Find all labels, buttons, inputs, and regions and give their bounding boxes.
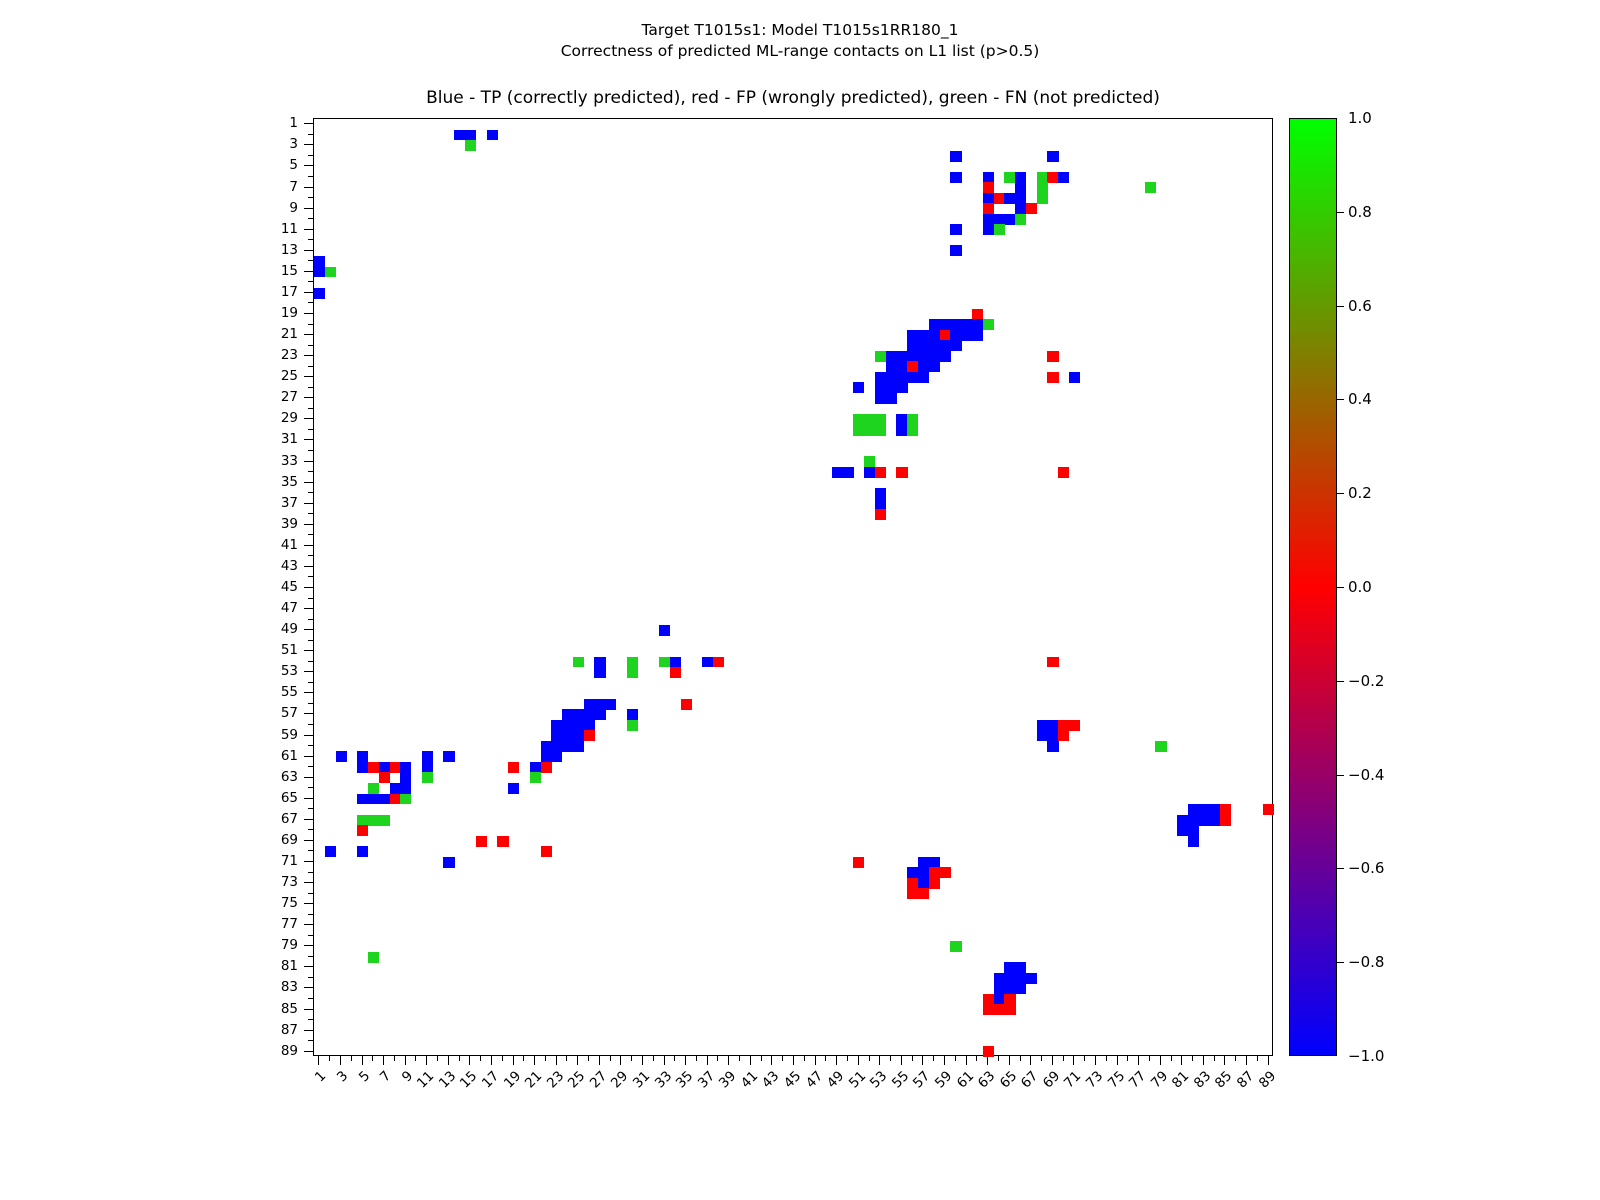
contact-cell xyxy=(875,467,886,478)
y-tick xyxy=(304,861,313,862)
contact-cell xyxy=(886,351,897,362)
y-tick xyxy=(308,239,313,240)
contact-cell xyxy=(929,351,940,362)
y-tick-label: 19 xyxy=(258,305,298,321)
y-tick xyxy=(308,640,313,641)
x-tick xyxy=(556,1056,557,1065)
y-tick-label: 69 xyxy=(258,832,298,848)
y-tick xyxy=(308,619,313,620)
colorbar-tick xyxy=(1337,868,1344,869)
x-tick xyxy=(318,1056,319,1065)
contact-cell xyxy=(1004,214,1015,225)
x-tick xyxy=(577,1056,578,1065)
contact-cell xyxy=(368,783,379,794)
x-tick xyxy=(1073,1056,1074,1065)
y-tick-label: 61 xyxy=(258,748,298,764)
x-tick xyxy=(415,1056,416,1061)
y-tick-label: 27 xyxy=(258,389,298,405)
contact-cell xyxy=(627,720,638,731)
y-tick xyxy=(304,376,313,377)
contact-cell xyxy=(573,720,584,731)
y-tick-label: 33 xyxy=(258,453,298,469)
y-tick xyxy=(308,787,313,788)
contact-cell xyxy=(929,857,940,868)
y-tick xyxy=(304,966,313,967)
contact-cell xyxy=(994,983,1005,994)
contact-cell xyxy=(594,667,605,678)
contact-cell xyxy=(1004,983,1015,994)
y-tick xyxy=(304,987,313,988)
contact-cell xyxy=(918,888,929,899)
x-tick xyxy=(1127,1056,1128,1061)
contact-cell xyxy=(940,351,951,362)
y-tick xyxy=(304,882,313,883)
contact-cell xyxy=(357,751,368,762)
x-tick xyxy=(1192,1056,1193,1061)
y-tick xyxy=(308,872,313,873)
y-tick-label: 71 xyxy=(258,853,298,869)
x-tick xyxy=(566,1056,567,1061)
y-tick xyxy=(304,313,313,314)
contact-cell xyxy=(940,867,951,878)
x-tick xyxy=(1041,1056,1042,1061)
y-tick-label: 11 xyxy=(258,221,298,237)
contact-cell xyxy=(1058,730,1069,741)
x-tick xyxy=(502,1056,503,1061)
contact-cell xyxy=(357,825,368,836)
contact-cell xyxy=(907,888,918,899)
contact-cell xyxy=(864,456,875,467)
x-tick xyxy=(1224,1056,1225,1065)
x-tick xyxy=(329,1056,330,1061)
contact-cell xyxy=(929,878,940,889)
contact-cell xyxy=(1069,720,1080,731)
y-tick xyxy=(308,829,313,830)
contact-cell xyxy=(1037,730,1048,741)
x-tick xyxy=(426,1056,427,1065)
contact-cell xyxy=(390,762,401,773)
contact-cell xyxy=(1015,983,1026,994)
x-tick xyxy=(1203,1056,1204,1065)
contact-cell xyxy=(950,151,961,162)
contact-cell xyxy=(551,720,562,731)
y-tick xyxy=(308,345,313,346)
y-tick-label: 29 xyxy=(258,410,298,426)
x-tick xyxy=(437,1056,438,1061)
y-tick xyxy=(308,914,313,915)
y-tick xyxy=(308,935,313,936)
contact-cell xyxy=(530,772,541,783)
y-tick xyxy=(304,397,313,398)
y-tick xyxy=(308,155,313,156)
contact-cell xyxy=(918,857,929,868)
contact-cell xyxy=(573,741,584,752)
y-tick-label: 37 xyxy=(258,495,298,511)
x-tick xyxy=(836,1056,837,1065)
contact-cell xyxy=(1155,741,1166,752)
y-tick xyxy=(308,324,313,325)
figure-title-line1: Target T1015s1: Model T1015s1RR180_1 xyxy=(0,20,1600,41)
x-tick xyxy=(1084,1056,1085,1061)
contact-cell xyxy=(357,794,368,805)
contact-cell xyxy=(1263,804,1274,815)
contact-cell xyxy=(336,751,347,762)
y-tick xyxy=(304,1009,313,1010)
contact-cell xyxy=(681,699,692,710)
contact-cell xyxy=(400,762,411,773)
x-tick xyxy=(1106,1056,1107,1061)
y-tick xyxy=(308,302,313,303)
y-tick xyxy=(304,945,313,946)
y-tick xyxy=(304,250,313,251)
contact-cell xyxy=(1220,815,1231,826)
contact-cell xyxy=(443,751,454,762)
x-tick xyxy=(955,1056,956,1061)
contact-cell xyxy=(584,730,595,741)
contact-cell xyxy=(454,130,465,141)
x-tick xyxy=(793,1056,794,1065)
x-tick xyxy=(890,1056,891,1061)
x-tick xyxy=(545,1056,546,1061)
y-tick xyxy=(308,1040,313,1041)
contact-cell xyxy=(864,467,875,478)
x-tick xyxy=(1117,1056,1118,1065)
contact-cell xyxy=(961,330,972,341)
x-tick xyxy=(383,1056,384,1065)
x-tick xyxy=(987,1056,988,1065)
contact-cell xyxy=(551,730,562,741)
contact-cell xyxy=(1015,172,1026,183)
contact-cell xyxy=(875,414,886,425)
contact-cell xyxy=(853,425,864,436)
y-tick-label: 47 xyxy=(258,600,298,616)
x-tick xyxy=(1030,1056,1031,1065)
contact-cell xyxy=(994,1004,1005,1015)
x-tick xyxy=(534,1056,535,1065)
contact-cell xyxy=(1015,203,1026,214)
x-tick xyxy=(372,1056,373,1061)
contact-cell xyxy=(983,214,994,225)
x-tick xyxy=(761,1056,762,1061)
contact-cell xyxy=(929,867,940,878)
contact-cell xyxy=(508,783,519,794)
contact-cell xyxy=(562,709,573,720)
colorbar-tick-label: 0.2 xyxy=(1348,484,1372,502)
contact-cell xyxy=(1004,973,1015,984)
contact-cell xyxy=(1047,172,1058,183)
contact-cell xyxy=(314,288,325,299)
contact-cell xyxy=(886,382,897,393)
colorbar-tick-label: 0.8 xyxy=(1348,203,1372,221)
y-tick xyxy=(308,576,313,577)
y-tick xyxy=(308,598,313,599)
colorbar-tick-label: −1.0 xyxy=(1348,1047,1384,1065)
contact-cell xyxy=(1015,214,1026,225)
contact-cell xyxy=(972,319,983,330)
contact-cell xyxy=(627,657,638,668)
colorbar-tick-label: −0.2 xyxy=(1348,672,1384,690)
contact-cell xyxy=(1209,804,1220,815)
y-tick xyxy=(304,798,313,799)
x-tick xyxy=(362,1056,363,1065)
contact-cell xyxy=(875,382,886,393)
contact-cell xyxy=(379,762,390,773)
contact-cell xyxy=(465,140,476,151)
y-tick xyxy=(308,408,313,409)
x-tick xyxy=(966,1056,967,1065)
contact-cell xyxy=(357,815,368,826)
y-tick-label: 39 xyxy=(258,516,298,532)
y-tick-label: 53 xyxy=(258,663,298,679)
x-tick xyxy=(1181,1056,1182,1065)
contact-cell xyxy=(400,772,411,783)
colorbar-tick-label: 0.0 xyxy=(1348,578,1372,596)
contact-cell xyxy=(832,467,843,478)
contact-cell xyxy=(1015,973,1026,984)
x-tick xyxy=(858,1056,859,1065)
contact-cell xyxy=(584,699,595,710)
y-tick-label: 1 xyxy=(258,115,298,131)
colorbar-tick-label: 0.4 xyxy=(1348,390,1372,408)
colorbar-tick xyxy=(1337,306,1344,307)
contact-cell xyxy=(584,709,595,720)
y-tick xyxy=(308,893,313,894)
x-tick xyxy=(599,1056,600,1065)
y-tick xyxy=(308,134,313,135)
contact-cell xyxy=(1015,193,1026,204)
figure-root: Target T1015s1: Model T1015s1RR180_1 Cor… xyxy=(0,0,1600,1200)
x-tick xyxy=(653,1056,654,1061)
y-tick-label: 43 xyxy=(258,558,298,574)
contact-cell xyxy=(864,425,875,436)
y-tick-label: 31 xyxy=(258,431,298,447)
y-tick xyxy=(304,650,313,651)
y-tick xyxy=(308,429,313,430)
contact-cell xyxy=(1047,372,1058,383)
contact-cell xyxy=(907,340,918,351)
x-tick xyxy=(879,1056,880,1065)
colorbar-tick xyxy=(1337,493,1344,494)
x-tick xyxy=(1149,1056,1150,1061)
contact-cell xyxy=(551,751,562,762)
contact-cell xyxy=(379,794,390,805)
contact-cell xyxy=(886,372,897,383)
contact-cell xyxy=(983,224,994,235)
contact-cell xyxy=(907,361,918,372)
contact-cell xyxy=(994,973,1005,984)
x-tick xyxy=(944,1056,945,1065)
contact-cell xyxy=(390,783,401,794)
y-tick-label: 83 xyxy=(258,979,298,995)
contact-cell xyxy=(1188,804,1199,815)
contact-cell xyxy=(1188,836,1199,847)
x-tick xyxy=(513,1056,514,1065)
contact-cell xyxy=(1047,720,1058,731)
contact-cell xyxy=(907,330,918,341)
y-tick xyxy=(304,545,313,546)
contact-cell xyxy=(983,1046,994,1057)
x-tick xyxy=(394,1056,395,1061)
contact-cell xyxy=(368,794,379,805)
x-tick xyxy=(1063,1056,1064,1061)
y-tick xyxy=(308,176,313,177)
y-tick-label: 75 xyxy=(258,895,298,911)
y-tick-label: 55 xyxy=(258,684,298,700)
contact-cell xyxy=(1015,182,1026,193)
y-tick xyxy=(308,534,313,535)
contact-cell xyxy=(875,393,886,404)
y-tick xyxy=(304,439,313,440)
contact-cell xyxy=(853,414,864,425)
contact-cell xyxy=(1037,172,1048,183)
contact-cell xyxy=(875,498,886,509)
x-tick xyxy=(696,1056,697,1061)
y-tick-label: 15 xyxy=(258,263,298,279)
colorbar-tick xyxy=(1337,962,1344,963)
x-tick xyxy=(901,1056,902,1065)
x-tick xyxy=(1138,1056,1139,1065)
x-tick xyxy=(771,1056,772,1065)
y-tick xyxy=(308,555,313,556)
x-tick xyxy=(469,1056,470,1065)
contact-cell xyxy=(702,657,713,668)
contact-cell xyxy=(357,846,368,857)
contact-cell xyxy=(627,709,638,720)
y-tick-label: 79 xyxy=(258,937,298,953)
contact-cell xyxy=(1188,825,1199,836)
y-tick xyxy=(308,387,313,388)
y-tick xyxy=(304,756,313,757)
contact-cell xyxy=(875,351,886,362)
x-tick xyxy=(1214,1056,1215,1061)
contact-cell xyxy=(929,319,940,330)
contact-cell xyxy=(886,361,897,372)
contact-cell xyxy=(907,414,918,425)
contact-cell xyxy=(1015,962,1026,973)
x-tick xyxy=(1009,1056,1010,1065)
figure-title: Target T1015s1: Model T1015s1RR180_1 Cor… xyxy=(0,20,1600,62)
y-tick xyxy=(304,482,313,483)
contact-cell xyxy=(562,720,573,731)
contact-cell xyxy=(983,182,994,193)
contact-cell xyxy=(950,172,961,183)
contact-cell xyxy=(1037,182,1048,193)
y-tick xyxy=(308,218,313,219)
contact-cell xyxy=(422,762,433,773)
contact-cell xyxy=(940,330,951,341)
contact-cell xyxy=(918,867,929,878)
contact-cell xyxy=(659,625,670,636)
contact-cell xyxy=(972,330,983,341)
x-tick xyxy=(685,1056,686,1065)
colorbar-gradient xyxy=(1290,119,1336,1055)
x-tick xyxy=(1160,1056,1161,1065)
x-tick xyxy=(523,1056,524,1061)
contact-cell xyxy=(1047,151,1058,162)
contact-cell xyxy=(875,488,886,499)
x-tick xyxy=(1052,1056,1053,1065)
x-tick xyxy=(750,1056,751,1065)
contact-cell xyxy=(983,193,994,204)
contact-cell xyxy=(918,372,929,383)
contact-cell xyxy=(875,425,886,436)
contact-cell xyxy=(907,351,918,362)
contact-cell xyxy=(940,319,951,330)
contact-cell xyxy=(918,361,929,372)
contact-cell xyxy=(368,815,379,826)
colorbar-tick xyxy=(1337,587,1344,588)
contact-cell xyxy=(907,425,918,436)
y-tick xyxy=(308,682,313,683)
contact-cell xyxy=(1177,825,1188,836)
contact-cell xyxy=(562,730,573,741)
contact-cell xyxy=(1047,730,1058,741)
contact-cell xyxy=(1047,351,1058,362)
x-tick xyxy=(728,1056,729,1065)
contact-cell xyxy=(929,330,940,341)
contact-cell xyxy=(1037,193,1048,204)
y-tick xyxy=(304,461,313,462)
contact-cell xyxy=(465,130,476,141)
contact-cell xyxy=(400,783,411,794)
contact-cell xyxy=(573,730,584,741)
figure-title-line2: Correctness of predicted ML-range contac… xyxy=(0,41,1600,62)
colorbar[interactable] xyxy=(1289,118,1337,1056)
contact-cell xyxy=(1198,804,1209,815)
colorbar-tick xyxy=(1337,681,1344,682)
colorbar-tick-label: −0.4 xyxy=(1348,766,1384,784)
contact-cell xyxy=(1209,815,1220,826)
y-tick xyxy=(304,187,313,188)
contact-cell xyxy=(551,741,562,752)
y-tick xyxy=(308,513,313,514)
y-tick xyxy=(308,998,313,999)
y-tick xyxy=(308,850,313,851)
contact-cell xyxy=(907,878,918,889)
y-tick-label: 51 xyxy=(258,642,298,658)
contact-cell xyxy=(541,846,552,857)
y-tick-label: 87 xyxy=(258,1022,298,1038)
contact-cell xyxy=(907,867,918,878)
contact-cell xyxy=(929,340,940,351)
y-tick xyxy=(304,713,313,714)
contact-cell xyxy=(713,657,724,668)
y-tick xyxy=(304,671,313,672)
contact-cell xyxy=(368,762,379,773)
contact-cell xyxy=(594,699,605,710)
contact-cell xyxy=(896,351,907,362)
contact-map-cells xyxy=(314,119,1272,1055)
contact-map-plot[interactable] xyxy=(313,118,1273,1056)
contact-cell xyxy=(961,319,972,330)
contact-cell xyxy=(1004,962,1015,973)
contact-cell xyxy=(443,857,454,868)
contact-cell xyxy=(1026,203,1037,214)
y-tick-label: 23 xyxy=(258,347,298,363)
contact-cell xyxy=(379,815,390,826)
y-tick-label: 85 xyxy=(258,1001,298,1017)
y-tick xyxy=(308,745,313,746)
axes-title: Blue - TP (correctly predicted), red - F… xyxy=(313,88,1273,108)
x-tick xyxy=(448,1056,449,1065)
contact-cell xyxy=(368,952,379,963)
x-tick xyxy=(642,1056,643,1065)
y-tick-label: 41 xyxy=(258,537,298,553)
y-tick-label: 45 xyxy=(258,579,298,595)
contact-cell xyxy=(573,657,584,668)
contact-cell xyxy=(541,762,552,773)
contact-cell xyxy=(950,224,961,235)
